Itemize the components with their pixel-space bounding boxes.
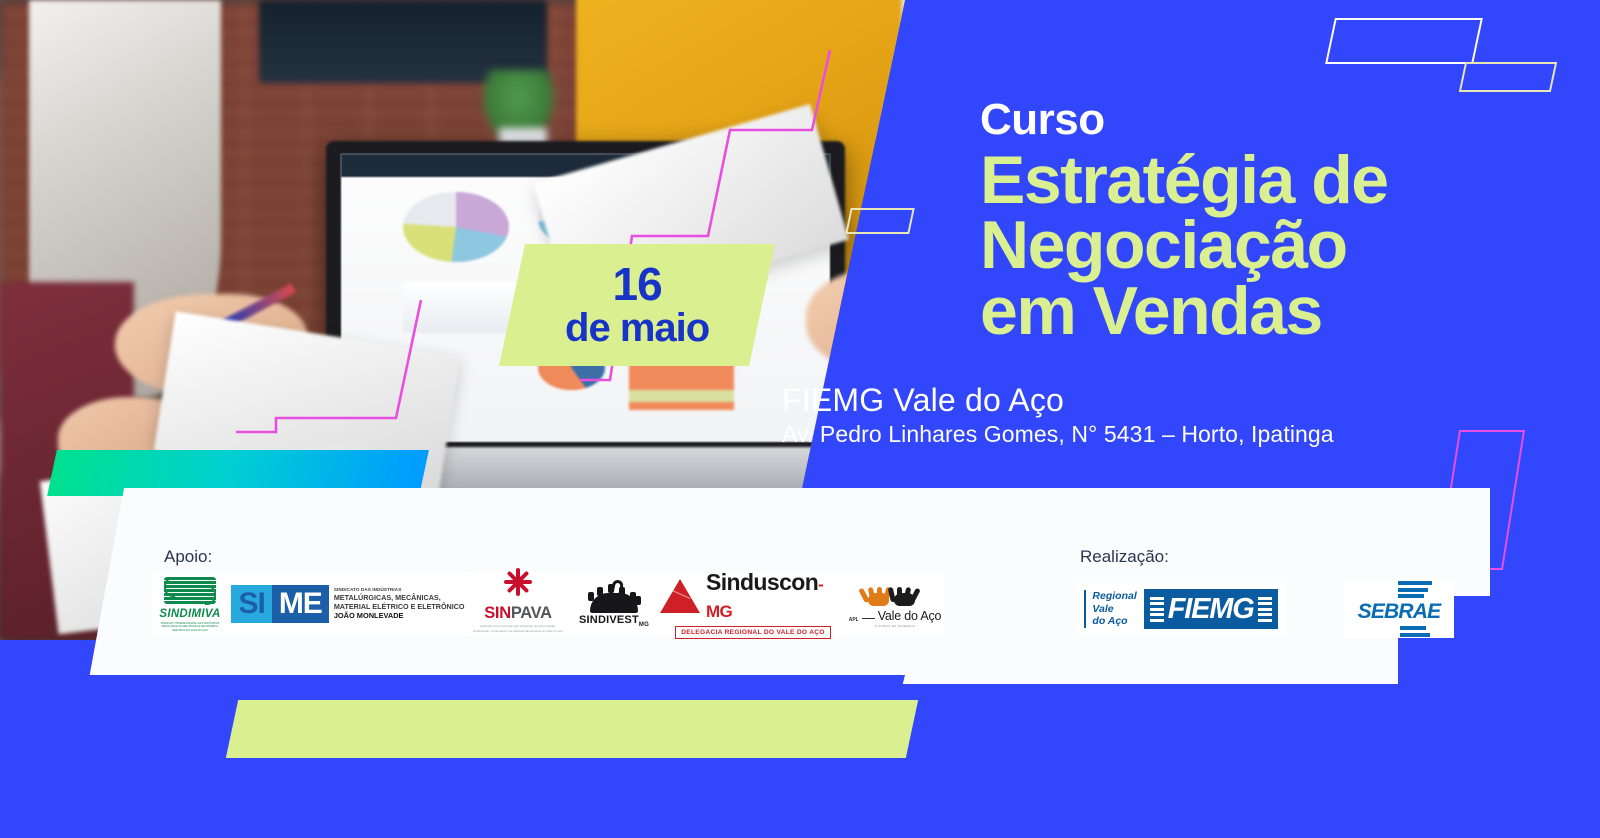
sebrae-stripes-top-icon xyxy=(1398,581,1432,598)
date-day: 16 xyxy=(565,261,709,308)
logo-apl-vale-do-aco: APL Vale do Aço A FORÇA DA SINERGIA xyxy=(846,573,944,635)
sindivest-wordmark: SINDIVESTMG xyxy=(579,614,649,628)
sindimiva-subtitle: SINDICATO INTERMUNICIPAL DAS INDÚSTRIAS … xyxy=(155,622,225,632)
logo-sindivest: SINDIVESTMG xyxy=(568,573,660,635)
sinpava-star-icon xyxy=(503,575,533,603)
sindimiva-mark-icon xyxy=(164,576,216,606)
apl-tag: APL xyxy=(849,617,859,623)
logo-sime: SI ME SINDICATO DAS INDÚSTRIAS METALÚRGI… xyxy=(228,573,468,635)
page-title: Estratégia de Negociação em Vendas xyxy=(980,148,1540,344)
date-badge: 16 de maio xyxy=(499,244,775,366)
fiemg-regional-line-1: Regional xyxy=(1092,590,1136,602)
event-banner: 16 de maio Curso Estratégia de Negociaçã… xyxy=(0,0,1600,838)
logo-fiemg: Regional Vale do Aço FIEMG xyxy=(1076,583,1286,635)
decor-outline-rect-cream-small xyxy=(845,208,915,234)
sime-mark-si: SI xyxy=(231,585,271,623)
sinduscon-wordmark: Sinduscon-MG xyxy=(706,569,846,623)
realizacao-label: Realização: xyxy=(1080,547,1169,567)
sinpava-subtitle: Sindicato Intermunicipal das Indústrias … xyxy=(472,624,564,632)
title-line-2: Negociação xyxy=(980,213,1540,278)
logo-sindimiva: SINDIMIVA SINDICATO INTERMUNICIPAL DAS I… xyxy=(152,573,228,635)
sinpava-wordmark: SINPAVA xyxy=(484,604,552,623)
sinpava-word-a: SIN xyxy=(484,604,511,622)
apoio-label: Apoio: xyxy=(164,547,212,567)
decor-lime-bar-bottom xyxy=(226,700,918,758)
headline-block: Curso Estratégia de Negociação em Vendas xyxy=(980,98,1540,344)
sinduscon-triangle-icon xyxy=(660,579,700,613)
sindivest-gear-hanger-icon xyxy=(586,579,642,613)
fiemg-regional-text: Regional Vale do Aço xyxy=(1084,590,1136,627)
venue-address: Av. Pedro Linhares Gomes, N° 5431 – Hort… xyxy=(782,421,1334,448)
sime-line-4: JOÃO MONLEVADE xyxy=(334,611,465,620)
date-month: de maio xyxy=(565,308,709,349)
apl-wordmark: Vale do Aço xyxy=(878,609,942,623)
apl-subtitle: A FORÇA DA SINERGIA xyxy=(875,624,916,628)
logo-sebrae: SEBRAE xyxy=(1344,580,1454,638)
sinduscon-badge: DELEGACIA REGIONAL DO VALE DO AÇO xyxy=(675,626,831,639)
fiemg-regional-line-2: Vale xyxy=(1092,603,1136,615)
fiemg-mark-icon: FIEMG xyxy=(1144,589,1278,629)
title-line-1: Estratégia de xyxy=(980,148,1540,213)
venue-block: FIEMG Vale do Aço Av. Pedro Linhares Gom… xyxy=(782,382,1334,448)
sebrae-wordmark: SEBRAE xyxy=(1358,600,1441,624)
sindimiva-wordmark: SINDIMIVA xyxy=(159,608,220,620)
apl-rule-icon xyxy=(862,618,875,619)
sime-subtitle: SINDICATO DAS INDÚSTRIAS METALÚRGICAS, M… xyxy=(334,587,465,621)
title-line-3: em Vendas xyxy=(980,279,1540,344)
apoio-logo-row: SINDIMIVA SINDICATO INTERMUNICIPAL DAS I… xyxy=(152,572,944,636)
realizacao-logo-row: Regional Vale do Aço FIEMG SEBRAE xyxy=(1076,580,1454,638)
sime-line-2: METALÚRGICAS, MECÂNICAS, xyxy=(334,593,465,602)
sime-line-3: MATERIAL ELÉTRICO E ELETRÔNICO xyxy=(334,602,465,611)
apl-hands-icon xyxy=(863,580,927,608)
decor-outline-rect-white xyxy=(1325,18,1483,64)
sinpava-word-b: PAVA xyxy=(511,604,552,622)
logo-sinduscon: Sinduscon-MG DELEGACIA REGIONAL DO VALE … xyxy=(660,573,846,635)
sinduscon-word: Sinduscon xyxy=(706,569,818,595)
headline-kicker: Curso xyxy=(980,98,1540,142)
sindivest-suffix: MG xyxy=(639,623,649,629)
decor-outline-rect-cream xyxy=(1459,62,1557,92)
fiemg-wordmark: FIEMG xyxy=(1168,593,1254,626)
sime-mark-me: ME xyxy=(272,585,329,623)
fiemg-regional-line-3: do Aço xyxy=(1092,615,1136,627)
venue-name: FIEMG Vale do Aço xyxy=(782,382,1334,419)
sindivest-word: SINDIVEST xyxy=(579,614,639,626)
sebrae-stripes-bottom-icon xyxy=(1400,626,1430,637)
sime-mark-icon: SI ME xyxy=(231,585,328,623)
logo-sinpava: SINPAVA Sindicato Intermunicipal das Ind… xyxy=(468,572,568,636)
